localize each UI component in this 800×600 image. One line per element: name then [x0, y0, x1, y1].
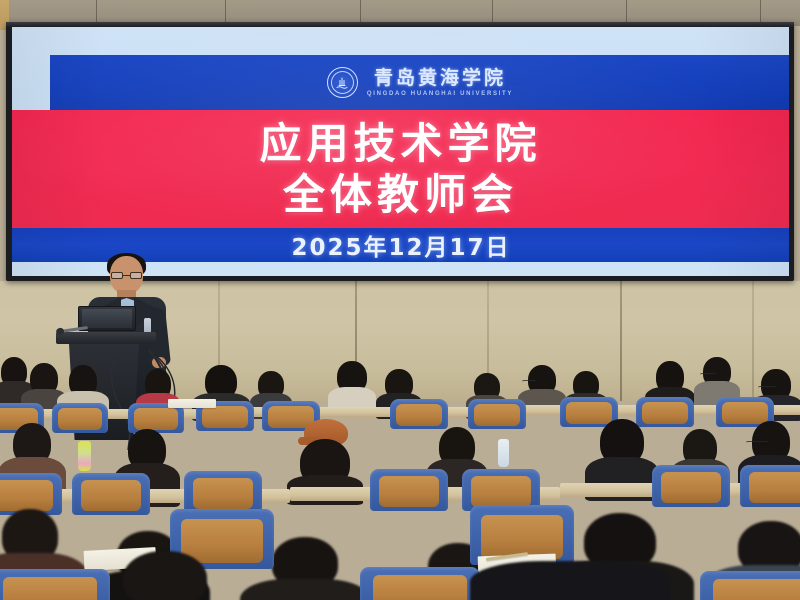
headline-band: 应用技术学院 全体教师会	[12, 110, 789, 228]
logo-band: 青岛黄海学院 QINGDAO HUANGHAI UNIVERSITY	[50, 55, 789, 110]
audience-area	[0, 355, 800, 600]
lecture-seat	[72, 473, 150, 515]
university-name-en: QINGDAO HUANGHAI UNIVERSITY	[367, 91, 513, 97]
headline-line-2: 全体教师会	[283, 171, 518, 218]
plastic-water-bottle	[498, 439, 509, 467]
lecture-seat	[184, 471, 262, 513]
projection-screen: 青岛黄海学院 QINGDAO HUANGHAI UNIVERSITY 应用技术学…	[12, 27, 789, 276]
microphone-icon	[60, 326, 88, 333]
lecture-hall-photo: 青岛黄海学院 QINGDAO HUANGHAI UNIVERSITY 应用技术学…	[0, 0, 800, 600]
lecture-seat	[468, 399, 526, 429]
attendee	[330, 361, 374, 411]
attendee	[480, 561, 660, 600]
lecture-seat	[390, 399, 448, 429]
laptop	[78, 306, 136, 334]
glasses-icon	[111, 272, 142, 279]
open-notebook	[168, 399, 216, 408]
university-crest-icon	[327, 67, 358, 98]
headline-line-1: 应用技术学院	[259, 120, 541, 167]
attendee	[100, 551, 230, 600]
lecture-seat	[52, 403, 108, 433]
university-name-cn: 青岛黄海学院	[374, 69, 506, 88]
lecture-seat	[0, 569, 110, 600]
lecture-seat	[370, 469, 448, 511]
podium-top-surface	[56, 332, 156, 344]
lecture-seat	[652, 465, 730, 507]
lecture-seat	[360, 567, 480, 600]
lecture-seat	[740, 465, 800, 507]
green-water-bottle	[78, 441, 91, 471]
lecture-seat	[700, 571, 800, 600]
